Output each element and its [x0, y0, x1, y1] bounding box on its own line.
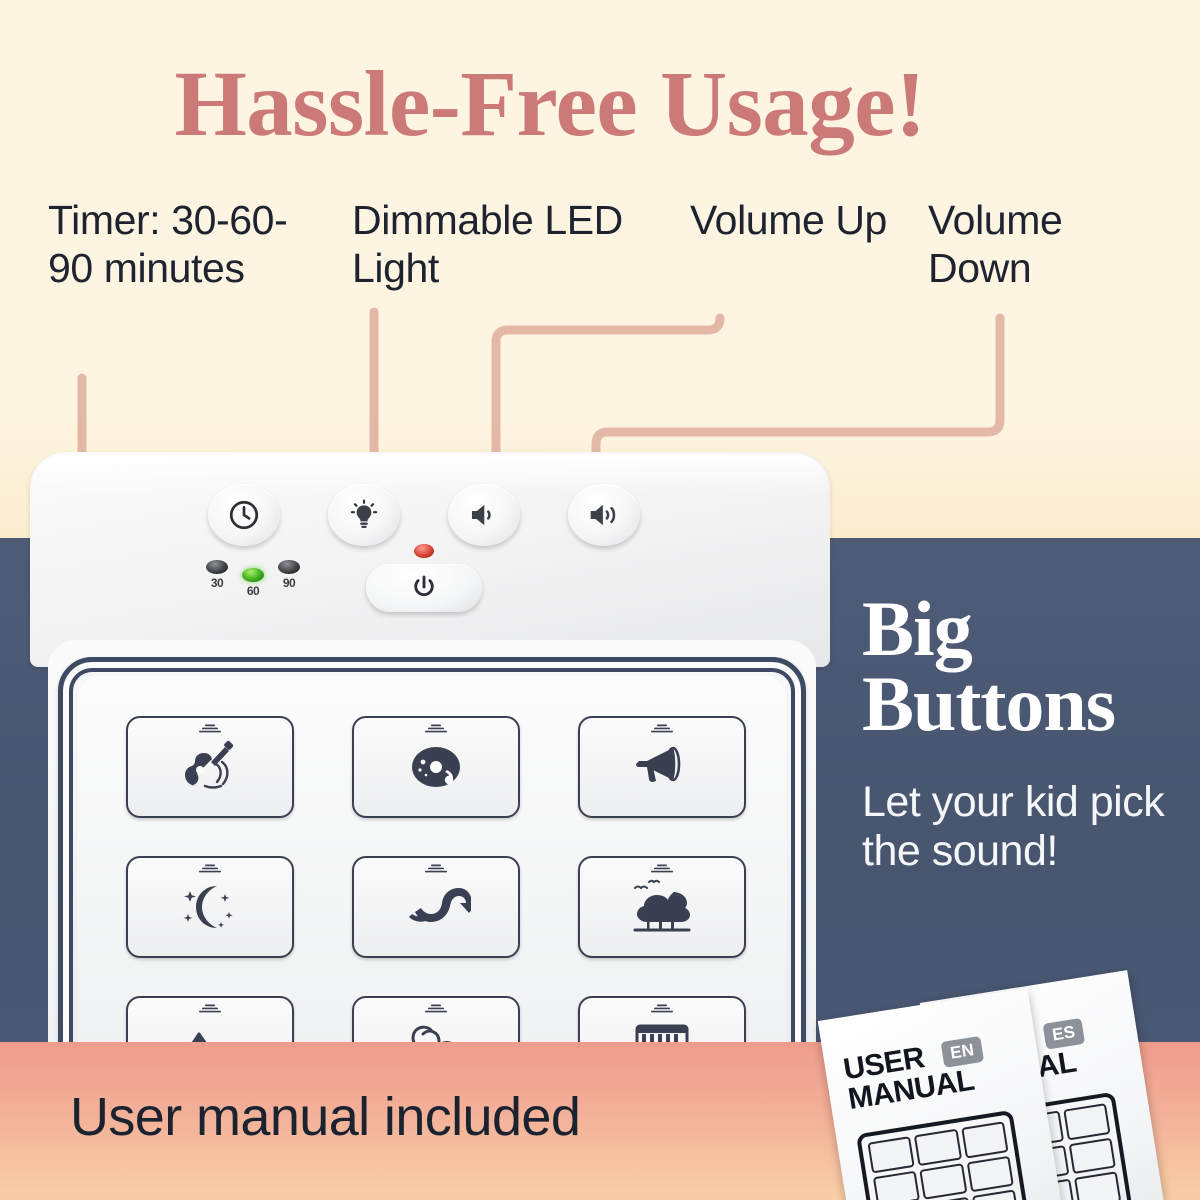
big-buttons-heading-line2: Buttons — [862, 667, 1192, 742]
clock-icon — [227, 498, 261, 532]
sound-forest[interactable] — [578, 856, 746, 958]
big-buttons-heading: Big Buttons — [862, 592, 1192, 742]
timer-led-90: 90 — [278, 560, 300, 598]
manual-key — [920, 1163, 968, 1200]
manual-key — [1074, 1172, 1122, 1200]
sound-megaphone[interactable] — [578, 716, 746, 818]
sound-button-grid — [126, 716, 746, 1098]
sound-night[interactable] — [126, 856, 294, 958]
big-buttons-subtext: Let your kid pick the sound! — [862, 778, 1182, 876]
speaker-low-icon — [467, 498, 501, 532]
power-button[interactable] — [366, 564, 482, 612]
manual-key — [961, 1121, 1009, 1158]
user-manual-en: USER MANUAL EN — [818, 988, 1066, 1200]
led-lamp — [278, 560, 300, 574]
product-feature-image: Hassle-Free Usage! Timer: 30-60-90 minut… — [0, 0, 1200, 1200]
timer-led-60: 60 — [242, 568, 264, 598]
manual-title: USER MANUAL — [841, 1028, 1028, 1115]
timer-led-label: 60 — [247, 584, 259, 598]
light-button[interactable] — [328, 484, 400, 546]
forest-birds-icon — [627, 874, 697, 936]
vinyl-record-icon — [401, 734, 471, 796]
manual-key — [966, 1155, 1014, 1192]
timer-led-30: 30 — [206, 560, 228, 598]
timer-led-label: 30 — [211, 576, 223, 590]
guitar-lullaby-icon — [175, 734, 245, 796]
volume-down-button[interactable] — [568, 484, 640, 546]
speaker-high-icon — [587, 498, 621, 532]
led-lamp — [242, 568, 264, 582]
banner-text: User manual included — [70, 1086, 580, 1148]
sound-record[interactable] — [352, 716, 520, 818]
sound-guitar[interactable] — [126, 716, 294, 818]
manual-key — [914, 1129, 962, 1166]
megaphone-icon — [627, 734, 697, 796]
sound-ocean[interactable] — [352, 856, 520, 958]
manual-key — [972, 1190, 1020, 1200]
power-icon — [409, 573, 439, 603]
timer-led-indicators: 30 60 90 — [206, 560, 300, 598]
device-top-surface — [30, 452, 830, 667]
manual-keypad-diagram — [856, 1110, 1031, 1200]
sound-machine-device: 30 60 90 — [30, 452, 830, 1092]
manual-key — [1063, 1103, 1111, 1140]
big-buttons-heading-line1: Big — [862, 592, 1192, 667]
timer-button[interactable] — [208, 484, 280, 546]
power-led — [414, 544, 434, 558]
lightbulb-icon — [347, 498, 381, 532]
moon-stars-icon — [175, 874, 245, 936]
timer-led-label: 90 — [283, 576, 295, 590]
volume-up-button[interactable] — [448, 484, 520, 546]
manual-key — [873, 1170, 921, 1200]
led-lamp — [206, 560, 228, 574]
manual-key — [1068, 1137, 1116, 1174]
manual-key — [867, 1136, 915, 1173]
ocean-wave-icon — [401, 874, 471, 936]
